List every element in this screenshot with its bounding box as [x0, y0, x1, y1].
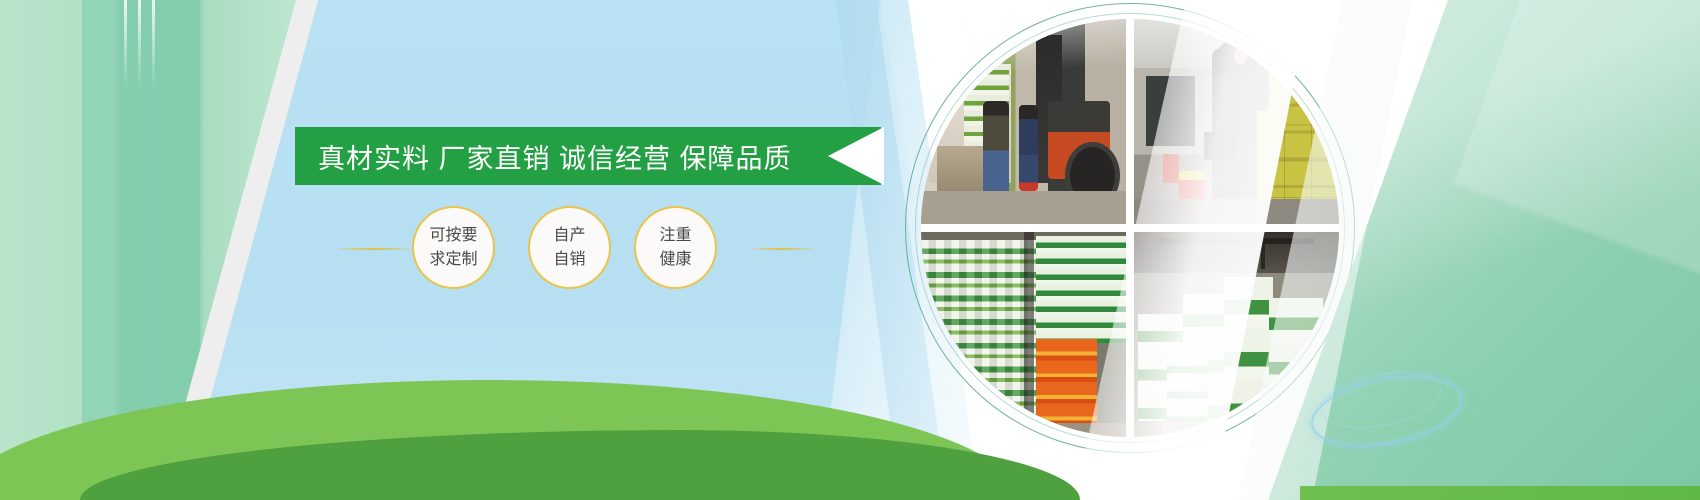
feature-line-1: 自产: [553, 224, 585, 247]
feature-line-2: 健康: [659, 248, 691, 271]
thin-highlight-line-1: [124, 0, 127, 88]
feature-line-1: 注重: [659, 224, 691, 247]
gold-divider-right: [752, 248, 812, 250]
feature-line-2: 自销: [553, 248, 585, 271]
feature-circle-health-focus[interactable]: 注重 健康: [634, 206, 717, 289]
slogan-ribbon-text: 真材实料 厂家直销 诚信经营 保障品质: [318, 127, 792, 185]
feature-circle-custom-made[interactable]: 可按要 求定制: [412, 206, 495, 289]
thin-highlight-line-2: [138, 0, 141, 88]
collage-horizontal-gap: [921, 224, 1339, 232]
promo-banner: 真材实料 厂家直销 诚信经营 保障品质 可按要 求定制 自产 自销 注重 健康: [0, 0, 1700, 500]
photo-top-left: [921, 19, 1126, 224]
thin-highlight-line-3: [152, 0, 155, 88]
feature-line-1: 可按要: [429, 224, 477, 247]
feature-line-2: 求定制: [429, 248, 477, 271]
gold-divider-left: [338, 248, 410, 250]
hill-right-strip: [1300, 486, 1700, 500]
feature-circle-self-produced[interactable]: 自产 自销: [528, 206, 611, 289]
